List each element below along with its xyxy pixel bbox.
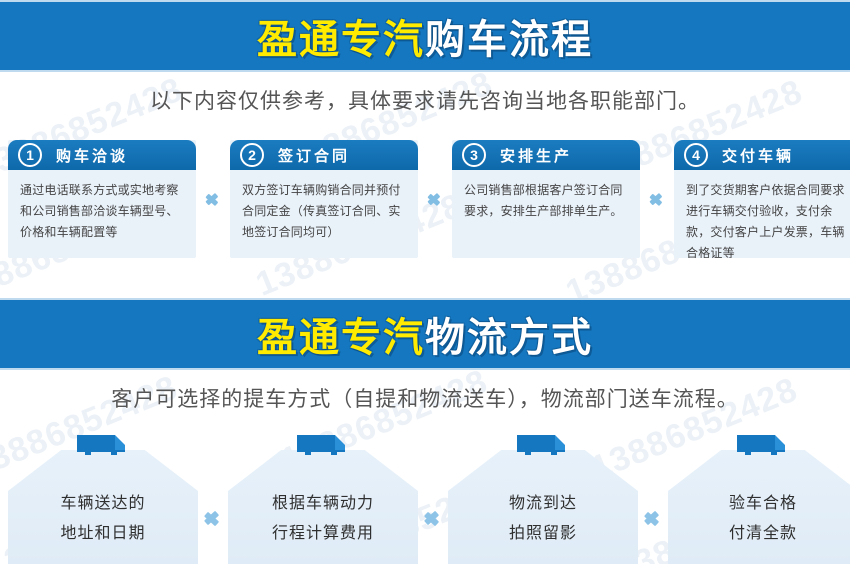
purchase-steps-row: 1 购车洽谈 通过电话联系方式或实地考察和公司销售部洽谈车辆型号、价格和车辆配置…	[0, 140, 850, 260]
step-arrow-1	[196, 140, 230, 258]
logistics-card-2: 根据车辆动力 行程计算费用	[228, 432, 418, 564]
step-number-badge: 1	[18, 143, 42, 167]
logistics-card-4: 验车合格 付清全款	[668, 432, 850, 564]
logistics-card-3: 物流到达 拍照留影	[448, 432, 638, 564]
logistics-subtitle: 客户可选择的提车方式（自提和物流送车），物流部门送车流程。	[0, 383, 850, 413]
logistics-card-text: 车辆送达的 地址和日期	[60, 488, 145, 547]
logistics-card-shape: 物流到达 拍照留影	[448, 450, 638, 564]
step-number-badge: 3	[462, 143, 486, 167]
step-title: 安排生产	[500, 145, 572, 166]
step-card-1: 1 购车洽谈 通过电话联系方式或实地考察和公司销售部洽谈车辆型号、价格和车辆配置…	[8, 140, 196, 258]
truck-icon	[295, 432, 351, 458]
step-header: 4 交付车辆	[674, 140, 850, 170]
logistics-card-text: 验车合格 付清全款	[729, 488, 797, 547]
truck-icon	[75, 432, 131, 458]
truck-icon	[735, 432, 791, 458]
banner-subject: 物流方式	[425, 315, 593, 361]
logistics-banner: 盈通专汽物流方式	[0, 298, 850, 370]
step-body-text: 到了交货期客户依据合同要求进行车辆交付验收，支付余款，交付客户上户发票，车辆合格…	[674, 170, 850, 258]
logistics-card-line1: 验车合格	[729, 488, 797, 518]
logistics-card-line1: 物流到达	[509, 488, 577, 518]
step-body-text: 双方签订车辆购销合同并预付合同定金（传真签订合同、实地签订合同均可）	[230, 170, 418, 251]
chevron-right-icon	[206, 186, 221, 212]
step-card-4: 4 交付车辆 到了交货期客户依据合同要求进行车辆交付验收，支付余款，交付客户上户…	[674, 140, 850, 258]
step-card-2: 2 签订合同 双方签订车辆购销合同并预付合同定金（传真签订合同、实地签订合同均可…	[230, 140, 418, 258]
truck-icon	[515, 432, 571, 458]
step-header: 1 购车洽谈	[8, 140, 196, 170]
step-body-text: 公司销售部根据客户签订合同要求，安排生产部排单生产。	[452, 170, 640, 230]
logistics-card-line2: 拍照留影	[509, 518, 577, 548]
logistics-card-line2: 行程计算费用	[272, 518, 374, 548]
logistics-card-1: 车辆送达的 地址和日期	[8, 432, 198, 564]
logistics-banner-title: 盈通专汽物流方式	[257, 305, 593, 363]
step-card-3: 3 安排生产 公司销售部根据客户签订合同要求，安排生产部排单生产。	[452, 140, 640, 258]
step-title: 交付车辆	[722, 145, 794, 166]
chevron-right-icon	[428, 186, 443, 212]
step-header: 2 签订合同	[230, 140, 418, 170]
logistics-arrow-1	[198, 432, 228, 564]
chevron-right-icon	[205, 503, 222, 533]
logistics-card-line1: 车辆送达的	[60, 488, 145, 518]
logistics-card-shape: 根据车辆动力 行程计算费用	[228, 450, 418, 564]
logistics-card-line1: 根据车辆动力	[272, 488, 374, 518]
step-title: 签订合同	[278, 145, 350, 166]
chevron-right-icon	[425, 503, 442, 533]
purchase-banner-title: 盈通专汽购车流程	[257, 7, 593, 65]
step-number-badge: 4	[684, 143, 708, 167]
chevron-right-icon	[645, 503, 662, 533]
logistics-arrow-3	[638, 432, 668, 564]
logistics-card-line2: 付清全款	[729, 518, 797, 548]
step-number-badge: 2	[240, 143, 264, 167]
logistics-card-line2: 地址和日期	[60, 518, 145, 548]
step-header: 3 安排生产	[452, 140, 640, 170]
step-body-text: 通过电话联系方式或实地考察和公司销售部洽谈车辆型号、价格和车辆配置等	[8, 170, 196, 251]
logistics-cards-row: 车辆送达的 地址和日期 根据车辆动力 行程计算费用	[0, 432, 850, 564]
purchase-banner: 盈通专汽购车流程	[0, 0, 850, 72]
logistics-card-text: 物流到达 拍照留影	[509, 488, 577, 547]
banner-subject: 购车流程	[425, 17, 593, 63]
step-title: 购车洽谈	[56, 145, 128, 166]
logistics-card-shape: 车辆送达的 地址和日期	[8, 450, 198, 564]
brand-name: 盈通专汽	[257, 315, 425, 361]
logistics-card-text: 根据车辆动力 行程计算费用	[272, 488, 374, 547]
step-arrow-3	[640, 140, 674, 258]
purchase-subtitle: 以下内容仅供参考，具体要求请先咨询当地各职能部门。	[0, 85, 850, 115]
brand-name: 盈通专汽	[257, 17, 425, 63]
logistics-arrow-2	[418, 432, 448, 564]
chevron-right-icon	[650, 186, 665, 212]
step-arrow-2	[418, 140, 452, 258]
logistics-card-shape: 验车合格 付清全款	[668, 450, 850, 564]
